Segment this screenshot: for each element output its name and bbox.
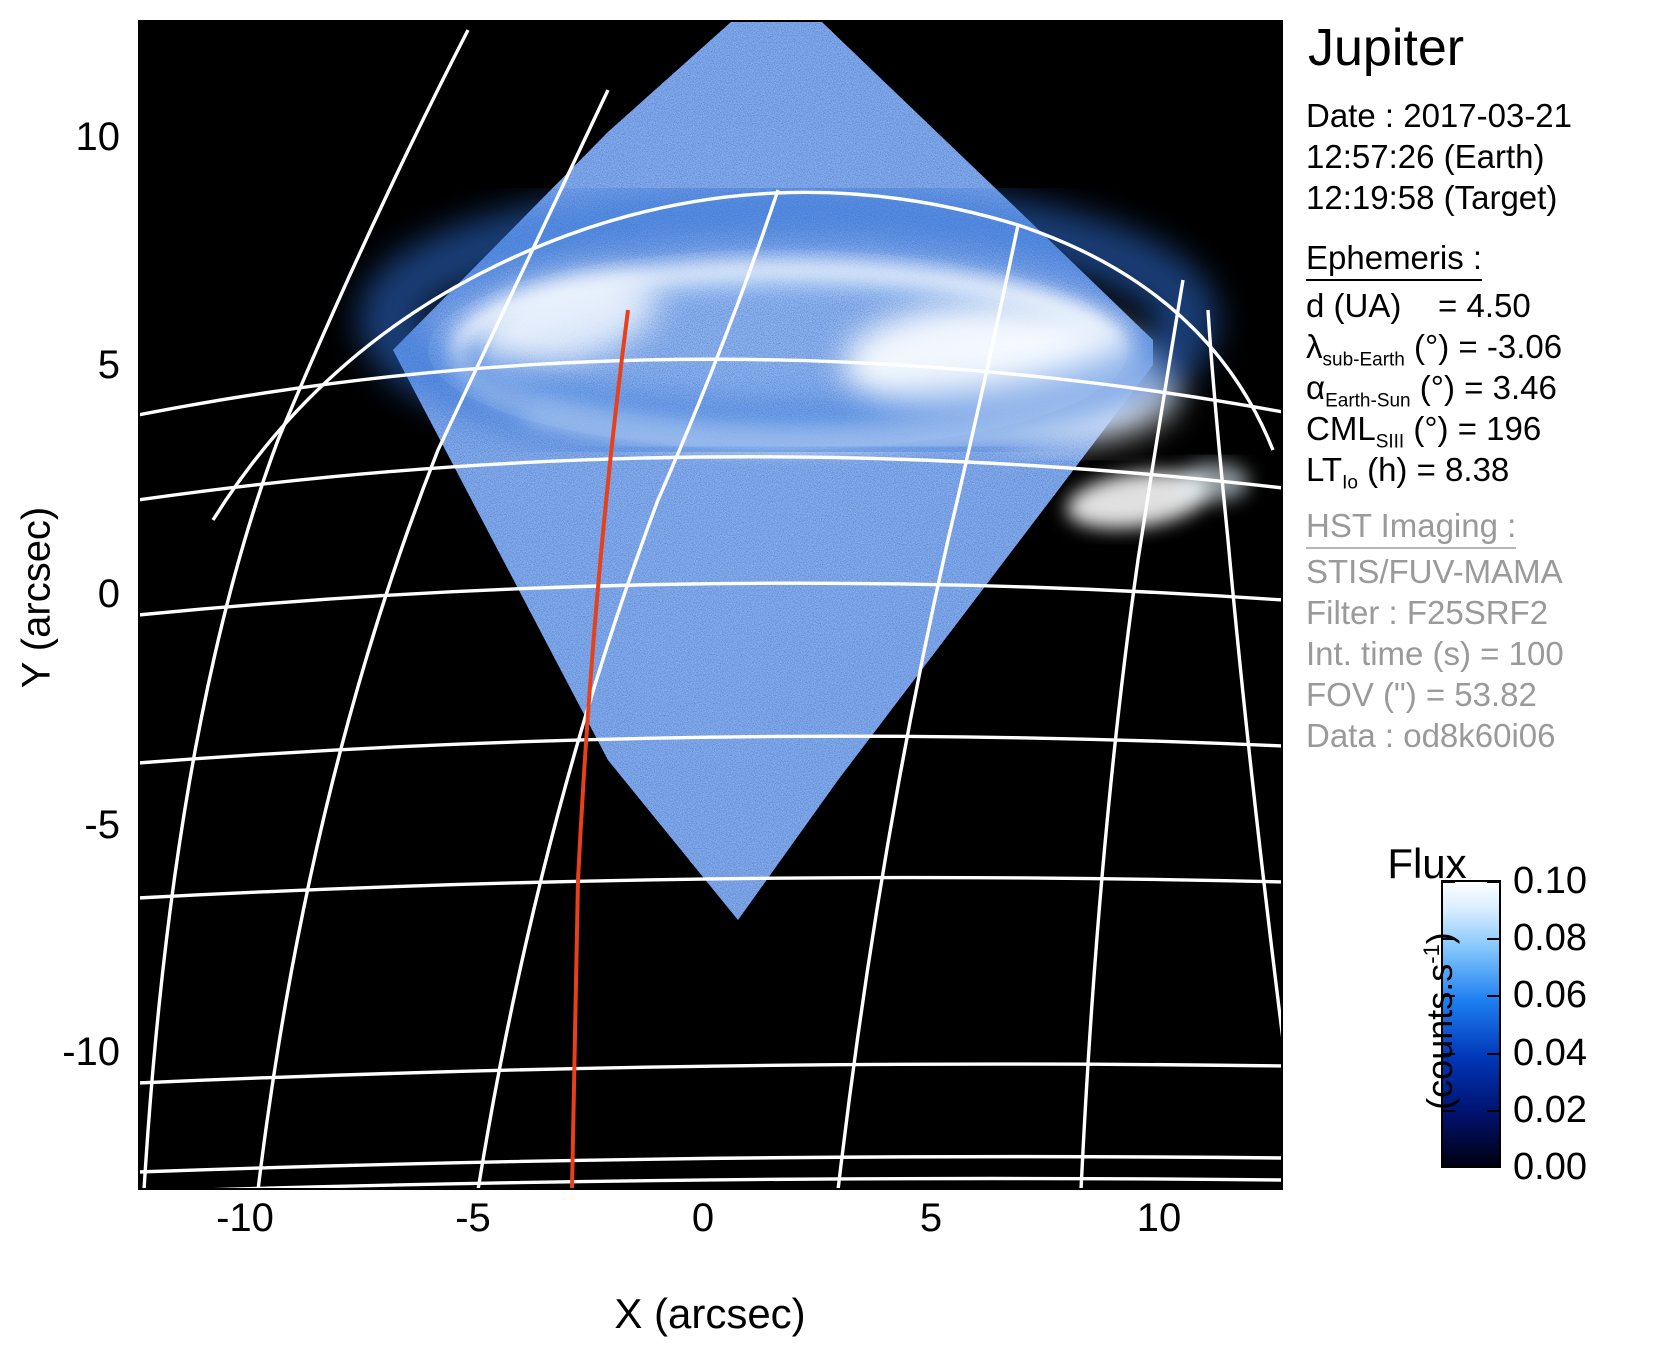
cml-label: CML: [1306, 410, 1376, 447]
colorbar-label-010: 0.10: [1513, 860, 1587, 903]
colorbar-tick-right-000: [1487, 1166, 1501, 1168]
alpha-unit: (°): [1420, 369, 1455, 406]
alpha-symbol: α: [1306, 369, 1325, 406]
ephemeris-row-distance: d (UA) = 4.50: [1306, 285, 1562, 326]
ephemeris-block: d (UA) = 4.50 λsub-Earth (°) = -3.06 αEa…: [1306, 285, 1562, 490]
target-time-line: 12:19:58 (Target): [1306, 179, 1557, 216]
x-axis-label: X (arcsec): [430, 1290, 990, 1338]
x-tick-5: 5: [876, 1196, 986, 1241]
alpha-value: = 3.46: [1464, 369, 1557, 406]
colorbar-label-006: 0.06: [1513, 974, 1587, 1017]
hst-imaging-block: STIS/FUV-MAMA Filter : F25SRF2 Int. time…: [1306, 551, 1564, 756]
x-tick-m10: -10: [190, 1196, 300, 1241]
ephemeris-heading: Ephemeris :: [1306, 237, 1482, 281]
colorbar-label-002: 0.02: [1513, 1089, 1587, 1132]
y-tick-m10: -10: [10, 1030, 120, 1075]
distance-label: d (UA): [1306, 287, 1401, 324]
colorbar-label-000: 0.00: [1513, 1146, 1587, 1189]
lt-value: = 8.38: [1417, 451, 1510, 488]
y-tick-10: 10: [10, 115, 120, 160]
y-tick-m5: -5: [10, 803, 120, 848]
y-axis-label: Y (arcsec): [15, 398, 60, 798]
lt-label: LT: [1306, 451, 1342, 488]
ephemeris-row-alpha: αEarth-Sun (°) = 3.46: [1306, 367, 1562, 408]
ephemeris-row-lambda: λsub-Earth (°) = -3.06: [1306, 326, 1562, 367]
cml-unit: (°): [1413, 410, 1448, 447]
colorbar-tick-right-004: [1487, 1053, 1501, 1055]
ephemeris-row-cml: CMLSIII (°) = 196: [1306, 408, 1562, 449]
ephemeris-row-lt: LTIo (h) = 8.38: [1306, 449, 1562, 490]
io-footprint-track: [138, 20, 1283, 1190]
date-line: Date : 2017-03-21: [1306, 97, 1572, 134]
colorbar-tick-right-006: [1487, 995, 1501, 997]
lambda-symbol: λ: [1306, 328, 1323, 365]
earth-time-line: 12:57:26 (Earth): [1306, 138, 1544, 175]
aurora-image-plot: [138, 20, 1283, 1190]
lt-unit: (h): [1367, 451, 1407, 488]
colorbar-unit-label: (counts.s-1): [1419, 856, 1461, 1186]
colorbar-label-008: 0.08: [1513, 917, 1587, 960]
colorbar-tick-right-008: [1487, 938, 1501, 940]
x-tick-10: 10: [1104, 1196, 1214, 1241]
integration-time-line: Int. time (s) = 100: [1306, 635, 1564, 672]
hst-imaging-heading: HST Imaging :: [1306, 505, 1516, 549]
colorbar-unit-close: ): [1419, 932, 1460, 944]
colorbar-tick-right-002: [1487, 1110, 1501, 1112]
distance-value: = 4.50: [1438, 287, 1531, 324]
cml-value: = 196: [1458, 410, 1542, 447]
page-title: Jupiter: [1308, 18, 1464, 78]
x-tick-m5: -5: [418, 1196, 528, 1241]
fov-line: FOV (") = 53.82: [1306, 676, 1537, 713]
lambda-unit: (°): [1414, 328, 1449, 365]
data-id-line: Data : od8k60i06: [1306, 717, 1556, 754]
lt-subscript: Io: [1342, 473, 1358, 494]
x-tick-0: 0: [648, 1196, 758, 1241]
info-panel: Jupiter Date : 2017-03-21 12:57:26 (Eart…: [1300, 0, 1671, 820]
filter-line: Filter : F25SRF2: [1306, 594, 1548, 631]
colorbar-label-004: 0.04: [1513, 1032, 1587, 1075]
instrument-line: STIS/FUV-MAMA: [1306, 553, 1563, 590]
lambda-value: = -3.06: [1458, 328, 1562, 365]
colorbar-unit-exponent: -1: [1419, 944, 1444, 964]
observation-date-block: Date : 2017-03-21 12:57:26 (Earth) 12:19…: [1306, 95, 1572, 218]
y-tick-5: 5: [10, 343, 120, 388]
colorbar-tick-right-010: [1487, 881, 1501, 883]
colorbar-unit-main: (counts.s: [1419, 964, 1460, 1110]
